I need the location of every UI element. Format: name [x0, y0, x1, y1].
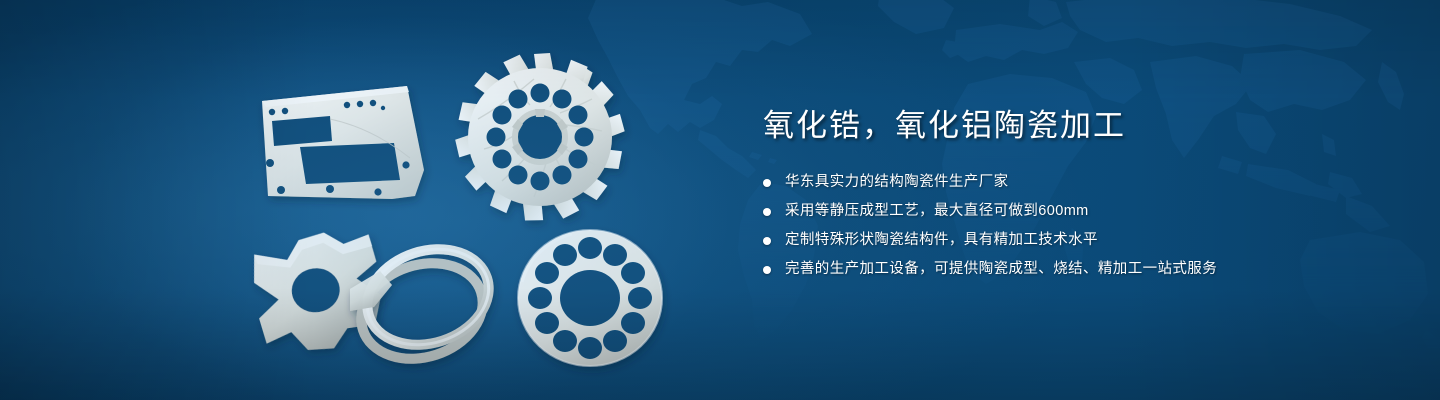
- product-photo-group: [0, 0, 740, 400]
- bullet-dot-icon: [763, 179, 771, 187]
- list-item: 华东具实力的结构陶瓷件生产厂家: [763, 174, 1383, 191]
- feature-text: 采用等静压成型工艺，最大直径可做到600mm: [785, 203, 1089, 220]
- ceramic-plate-part: [262, 86, 424, 199]
- banner-copy: 氧化锆，氧化铝陶瓷加工 华东具实力的结构陶瓷件生产厂家 采用等静压成型工艺，最大…: [763, 106, 1383, 278]
- bullet-dot-icon: [763, 208, 771, 216]
- page-title: 氧化锆，氧化铝陶瓷加工: [763, 106, 1383, 146]
- bullet-dot-icon: [763, 237, 771, 245]
- feature-text: 华东具实力的结构陶瓷件生产厂家: [785, 174, 1009, 191]
- feature-list: 华东具实力的结构陶瓷件生产厂家 采用等静压成型工艺，最大直径可做到600mm 定…: [763, 174, 1383, 278]
- feature-text: 完善的生产加工设备，可提供陶瓷成型、烧结、精加工一站式服务: [785, 261, 1217, 278]
- feature-text: 定制特殊形状陶瓷结构件，具有精加工技术水平: [785, 232, 1098, 249]
- hero-banner: 氧化锆，氧化铝陶瓷加工 华东具实力的结构陶瓷件生产厂家 采用等静压成型工艺，最大…: [0, 0, 1440, 400]
- bullet-dot-icon: [763, 266, 771, 274]
- list-item: 采用等静压成型工艺，最大直径可做到600mm: [763, 203, 1383, 220]
- list-item: 完善的生产加工设备，可提供陶瓷成型、烧结、精加工一站式服务: [763, 261, 1383, 278]
- ceramic-perforated-disc-part: [518, 230, 662, 366]
- list-item: 定制特殊形状陶瓷结构件，具有精加工技术水平: [763, 232, 1383, 249]
